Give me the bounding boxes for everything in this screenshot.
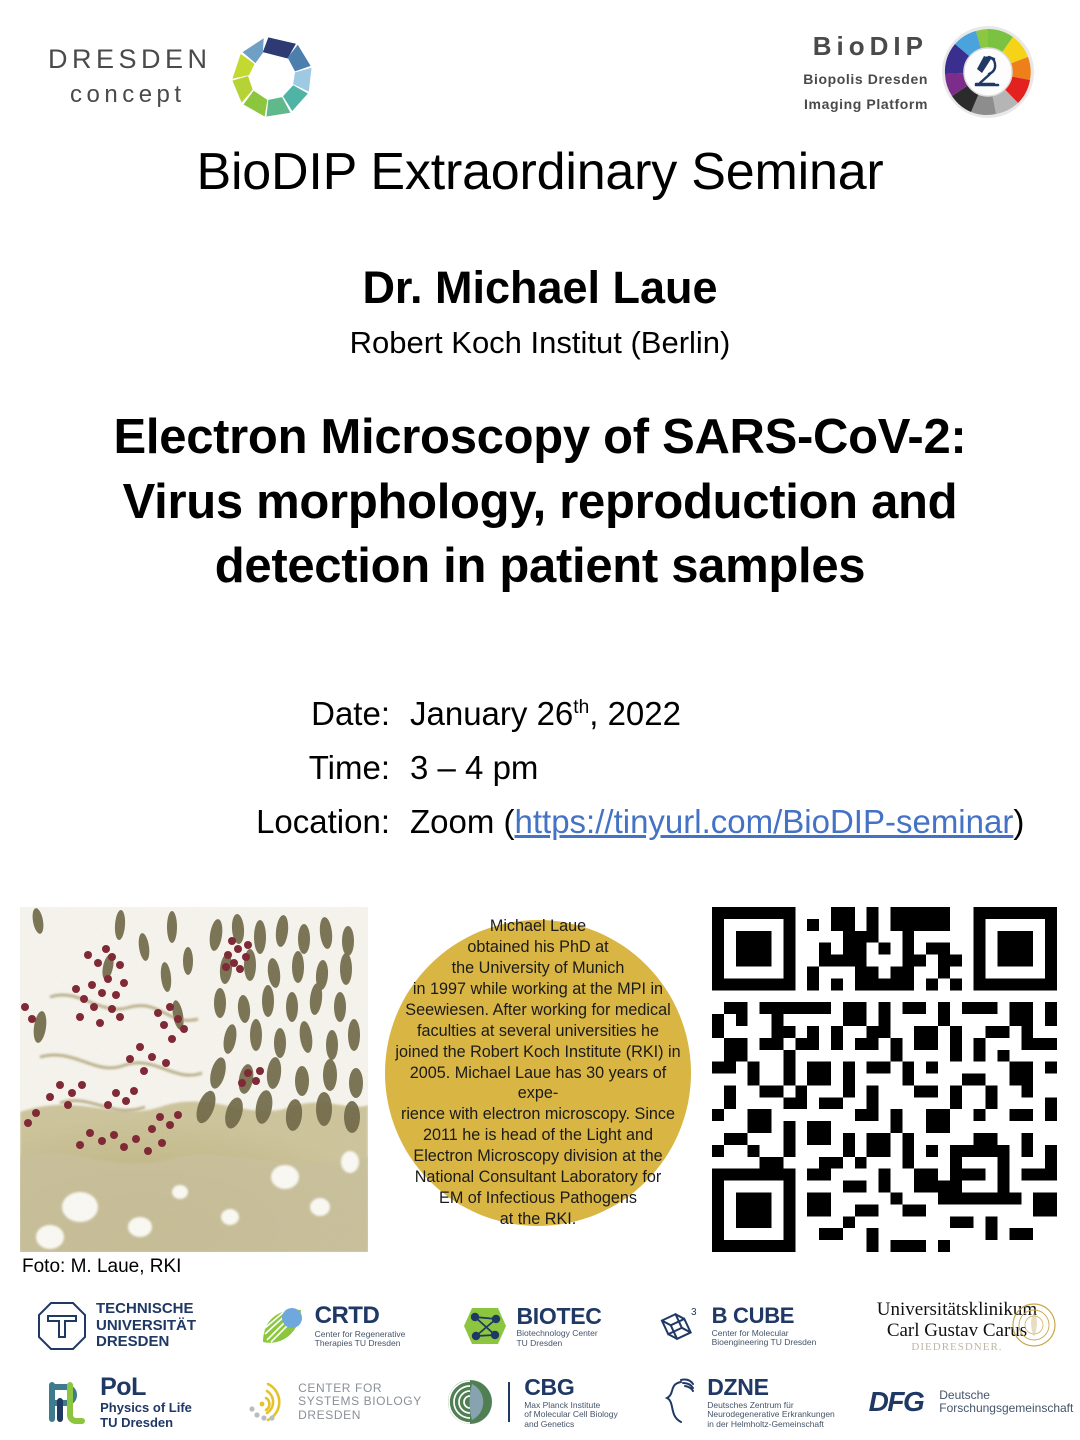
qr-code-seminar-link[interactable] xyxy=(712,907,1057,1252)
tu-dresden-line1: TECHNISCHE xyxy=(96,1301,196,1318)
biotec-mark-icon xyxy=(462,1304,508,1348)
b-cube-wordmark: B CUBE Center for Molecular Bioengineeri… xyxy=(712,1304,817,1348)
dresden-concept-logo: DRESDEN concept xyxy=(48,28,318,124)
speaker-bio-circle: Michael Laue obtained his PhD at the Uni… xyxy=(385,920,691,1226)
crtd-mark-icon xyxy=(259,1304,307,1348)
csbd-mark-icon xyxy=(242,1378,290,1426)
pol-sub1: Physics of Life xyxy=(100,1401,192,1416)
cbg-mark-icon xyxy=(446,1378,494,1426)
talk-title: Electron Microscopy of SARS-CoV-2: Virus… xyxy=(0,405,1080,599)
dfg-sub2: Forschungsgemeinschaft xyxy=(939,1402,1073,1415)
speaker-bio-text: Michael Laue obtained his PhD at the Uni… xyxy=(392,916,684,1229)
tu-dresden-line3: DRESDEN xyxy=(96,1334,196,1351)
seminar-poster: DRESDEN concept xyxy=(0,0,1080,1440)
seminar-kicker: BioDIP Extraordinary Seminar xyxy=(0,142,1080,202)
partner-logo-row-2: PoL Physics of Life TU Dresden xyxy=(0,1364,1080,1440)
dfg-wordmark: Deutsche Forschungsgemeinschaft xyxy=(939,1389,1073,1416)
speaker-name: Dr. Michael Laue xyxy=(0,262,1080,314)
ukd-line2: Carl Gustav Carus xyxy=(887,1320,1027,1341)
b-cube-mark-icon: 3 xyxy=(658,1303,704,1349)
date-value-suffix: , 2022 xyxy=(589,695,681,732)
time-label: Time: xyxy=(0,751,410,784)
tu-dresden-line2: UNIVERSITÄT xyxy=(96,1318,196,1335)
svg-text:3: 3 xyxy=(691,1307,697,1318)
event-details: Date: January 26th, 2022 Time: 3 – 4 pm … xyxy=(0,697,1080,859)
logo-dzne: DZNE Deutsches Zentrum für Neurodegenera… xyxy=(632,1375,862,1429)
logo-dfg: DFG Deutsche Forschungsgemeinschaft xyxy=(862,1386,1080,1418)
pol-mark-icon xyxy=(40,1377,92,1427)
electron-micrograph-image xyxy=(20,907,368,1252)
pol-title: PoL xyxy=(100,1373,192,1401)
b-cube-title: B CUBE xyxy=(712,1304,817,1329)
biodip-subtitle-1: Biopolis Dresden xyxy=(803,71,928,87)
biodip-subtitle-2: Imaging Platform xyxy=(804,96,928,112)
speaker-affiliation: Robert Koch Institut (Berlin) xyxy=(0,325,1080,361)
ukd-seal-icon xyxy=(1010,1301,1058,1349)
tu-dresden-wordmark: TECHNISCHE UNIVERSITÄT DRESDEN xyxy=(96,1301,196,1351)
partner-logos-footer: TECHNISCHE UNIVERSITÄT DRESDEN xyxy=(0,1288,1080,1440)
cbg-title: CBG xyxy=(524,1375,618,1401)
biotec-wordmark: BIOTEC Biotechnology Center TU Dresden xyxy=(516,1304,601,1349)
dzne-sub3: in der Helmholtz-Gemeinschaft xyxy=(707,1420,835,1430)
dresden-concept-line1: DRESDEN xyxy=(48,46,212,73)
dzne-wordmark: DZNE Deutsches Zentrum für Neurodegenera… xyxy=(707,1375,835,1429)
detail-row-date: Date: January 26th, 2022 xyxy=(0,697,1080,730)
dzne-title: DZNE xyxy=(707,1375,835,1401)
aperture-iris-icon xyxy=(226,28,318,124)
biotec-sub2: TU Dresden xyxy=(516,1339,601,1349)
logo-universitaetsklinikum: Universitätsklinikum Carl Gustav Carus D… xyxy=(842,1299,1072,1354)
biodip-title: BioDIP xyxy=(813,32,928,62)
csbd-wordmark: CENTER FOR SYSTEMS BIOLOGY DRESDEN xyxy=(298,1382,422,1422)
biodip-wordmark: BioDIP Biopolis Dresden Imaging Platform xyxy=(803,32,928,112)
time-value: 3 – 4 pm xyxy=(410,751,538,784)
biotec-title: BIOTEC xyxy=(516,1304,601,1330)
talk-title-line-3: detection in patient samples xyxy=(0,534,1080,599)
partner-logo-row-1: TECHNISCHE UNIVERSITÄT DRESDEN xyxy=(0,1288,1080,1364)
pol-sub2: TU Dresden xyxy=(100,1416,192,1431)
cbg-divider xyxy=(508,1382,510,1422)
detail-row-time: Time: 3 – 4 pm xyxy=(0,751,1080,784)
tu-dresden-mark-icon xyxy=(36,1300,88,1352)
talk-title-line-2: Virus morphology, reproduction and xyxy=(0,470,1080,535)
csbd-line2: SYSTEMS BIOLOGY xyxy=(298,1395,422,1408)
cbg-sub3: and Genetics xyxy=(524,1420,618,1430)
date-label: Date: xyxy=(0,697,410,730)
date-value-prefix: January 26 xyxy=(410,695,573,732)
logo-pol: PoL Physics of Life TU Dresden xyxy=(0,1373,232,1430)
pol-wordmark: PoL Physics of Life TU Dresden xyxy=(100,1373,192,1430)
csbd-line1: CENTER FOR xyxy=(298,1382,422,1395)
dfg-sub1: Deutsche xyxy=(939,1389,1073,1402)
ukd-line3: DIEDRESDNER. xyxy=(911,1341,1002,1353)
logo-csbd: CENTER FOR SYSTEMS BIOLOGY DRESDEN xyxy=(232,1378,432,1426)
dzne-mark-icon xyxy=(659,1376,699,1428)
detail-row-location: Location: Zoom (https://tinyurl.com/BioD… xyxy=(0,805,1080,838)
zoom-meeting-link[interactable]: https://tinyurl.com/BioDIP-seminar xyxy=(515,803,1014,840)
talk-title-line-1: Electron Microscopy of SARS-CoV-2: xyxy=(0,405,1080,470)
csbd-line3: DRESDEN xyxy=(298,1409,422,1422)
photo-caption: Foto: M. Laue, RKI xyxy=(22,1256,181,1278)
b-cube-sub2: Bioengineering TU Dresden xyxy=(712,1338,817,1348)
poster-header: DRESDEN concept xyxy=(0,0,1080,130)
location-label: Location: xyxy=(0,805,410,838)
dfg-title: DFG xyxy=(869,1386,924,1418)
color-wheel-microscope-icon xyxy=(938,22,1038,122)
crtd-title: CRTD xyxy=(315,1303,406,1330)
location-value: Zoom (https://tinyurl.com/BioDIP-seminar… xyxy=(410,805,1024,838)
date-value-ordinal: th xyxy=(573,697,589,718)
logo-crtd: CRTD Center for Regenerative Therapies T… xyxy=(232,1303,432,1349)
location-prefix: Zoom ( xyxy=(410,803,515,840)
dresden-concept-wordmark: DRESDEN concept xyxy=(48,46,212,107)
logo-tu-dresden: TECHNISCHE UNIVERSITÄT DRESDEN xyxy=(0,1300,232,1352)
cbg-wordmark: CBG Max Planck Institute of Molecular Ce… xyxy=(524,1375,618,1429)
crtd-sub2: Therapies TU Dresden xyxy=(315,1339,406,1349)
logo-b-cube: 3 B CUBE Center for Molecular Bioenginee… xyxy=(632,1303,842,1349)
location-suffix: ) xyxy=(1013,803,1024,840)
logo-biotec: BIOTEC Biotechnology Center TU Dresden xyxy=(432,1304,632,1349)
crtd-wordmark: CRTD Center for Regenerative Therapies T… xyxy=(315,1303,406,1349)
biodip-logo: BioDIP Biopolis Dresden Imaging Platform xyxy=(803,22,1038,122)
dresden-concept-line2: concept xyxy=(70,83,212,107)
date-value: January 26th, 2022 xyxy=(410,697,681,730)
logo-cbg: CBG Max Planck Institute of Molecular Ce… xyxy=(432,1375,632,1429)
